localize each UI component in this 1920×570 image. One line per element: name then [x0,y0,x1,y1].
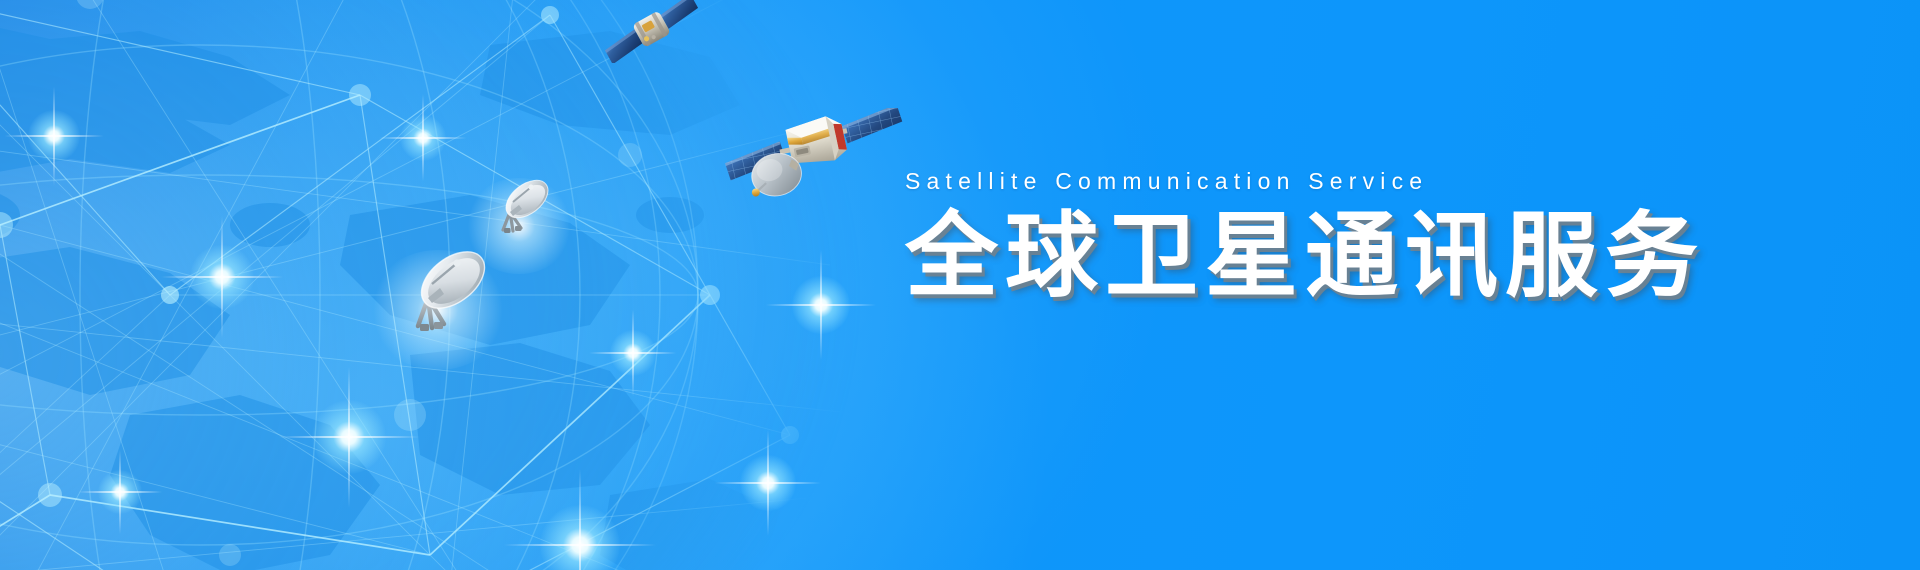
banner-subtitle: Satellite Communication Service [905,168,1725,195]
headline-block: Satellite Communication Service 全球卫星通讯服务 [905,168,1725,306]
orbiting-satellite-large [722,108,912,208]
satellite-dish-small [490,172,562,238]
orbiting-satellite-small [597,0,707,63]
banner-headline: 全球卫星通讯服务 [905,207,1725,306]
satellite-service-banner: Satellite Communication Service 全球卫星通讯服务 [0,0,1920,570]
